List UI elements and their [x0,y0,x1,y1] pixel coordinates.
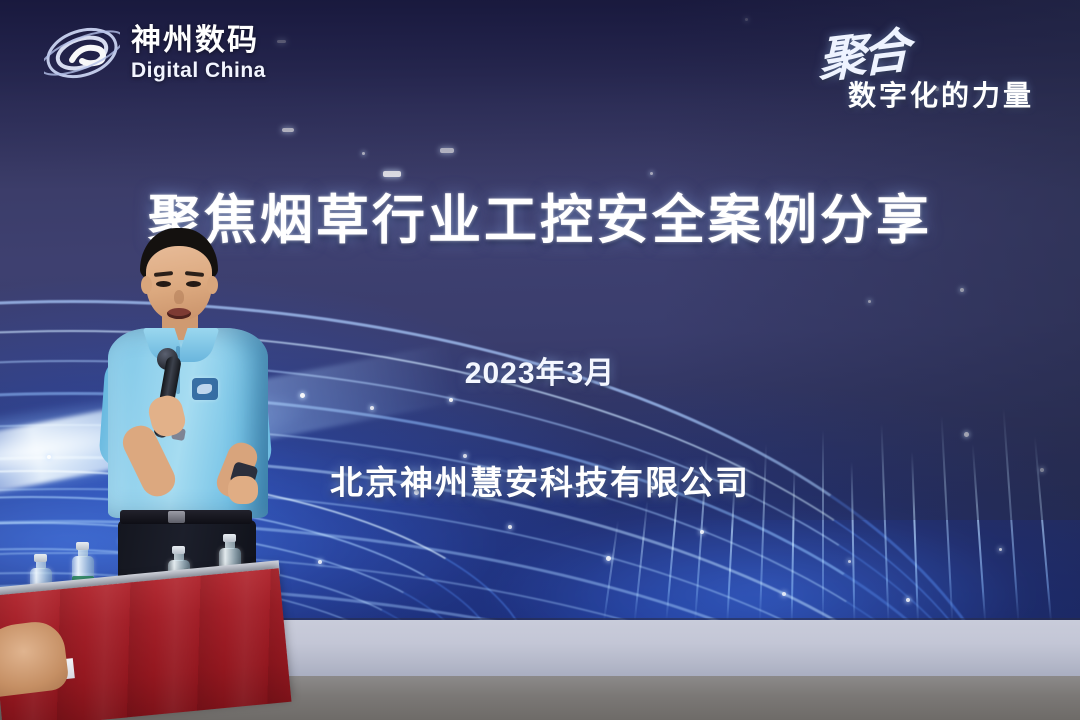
bottle-cap [76,542,89,550]
conference-stage-photo: 神州数码 Digital China 聚合 数字化的力量 聚焦烟草行业工控安全案… [0,0,1080,720]
speaker-belt [120,510,252,524]
bottle-cap [223,534,236,542]
bottle-cap [172,546,185,554]
brand-name-english: Digital China [131,60,266,81]
digital-china-wordmark: 神州数码 Digital China [131,26,266,81]
digital-china-logo: 神州数码 Digital China [44,22,266,84]
event-logo-tagline: 数字化的力量 [848,74,1034,114]
speaker-eye-right [186,281,201,287]
speaker-mouth [167,308,191,319]
event-logo: 聚合 数字化的力量 [804,16,1054,116]
speaker-eye-left [156,281,171,287]
spiral-swirl-logo-icon [44,22,120,84]
brand-name-chinese: 神州数码 [131,26,266,56]
speaker-ear-left [141,276,152,294]
company-logo-patch-icon [192,378,218,400]
speaker-right-hand [228,476,258,504]
bottle-cap [34,554,47,562]
speaker-belt-buckle [168,511,185,523]
speaker-ear-right [207,276,218,294]
speaker-nose [174,290,184,304]
